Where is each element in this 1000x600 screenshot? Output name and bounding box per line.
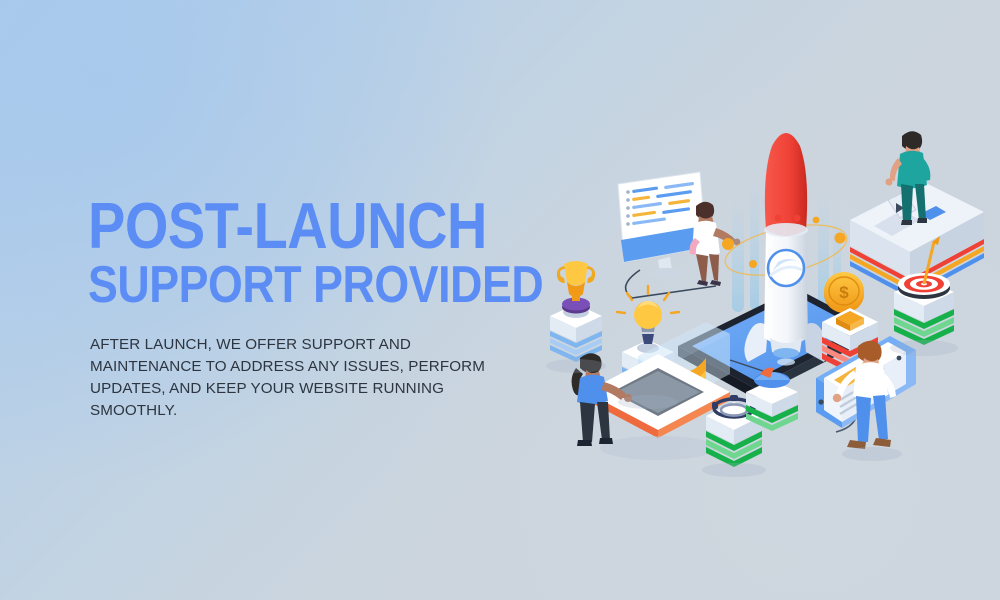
desktop-monitor [618, 172, 706, 278]
coin: $ [824, 272, 864, 313]
trophy [550, 261, 602, 362]
svg-text:$: $ [839, 283, 849, 302]
hero-illustration: $ [520, 110, 1000, 490]
text-column: POST-LAUNCH SUPPORT PROVIDED AFTER LAUNC… [88, 196, 558, 422]
headline-line-2: SUPPORT PROVIDED [88, 262, 492, 310]
body-copy: AFTER LAUNCH, WE OFFER SUPPORT AND MAINT… [90, 334, 522, 422]
post-launch-support-banner: POST-LAUNCH SUPPORT PROVIDED AFTER LAUNC… [0, 0, 1000, 600]
headline-line-1: POST-LAUNCH [88, 196, 492, 256]
